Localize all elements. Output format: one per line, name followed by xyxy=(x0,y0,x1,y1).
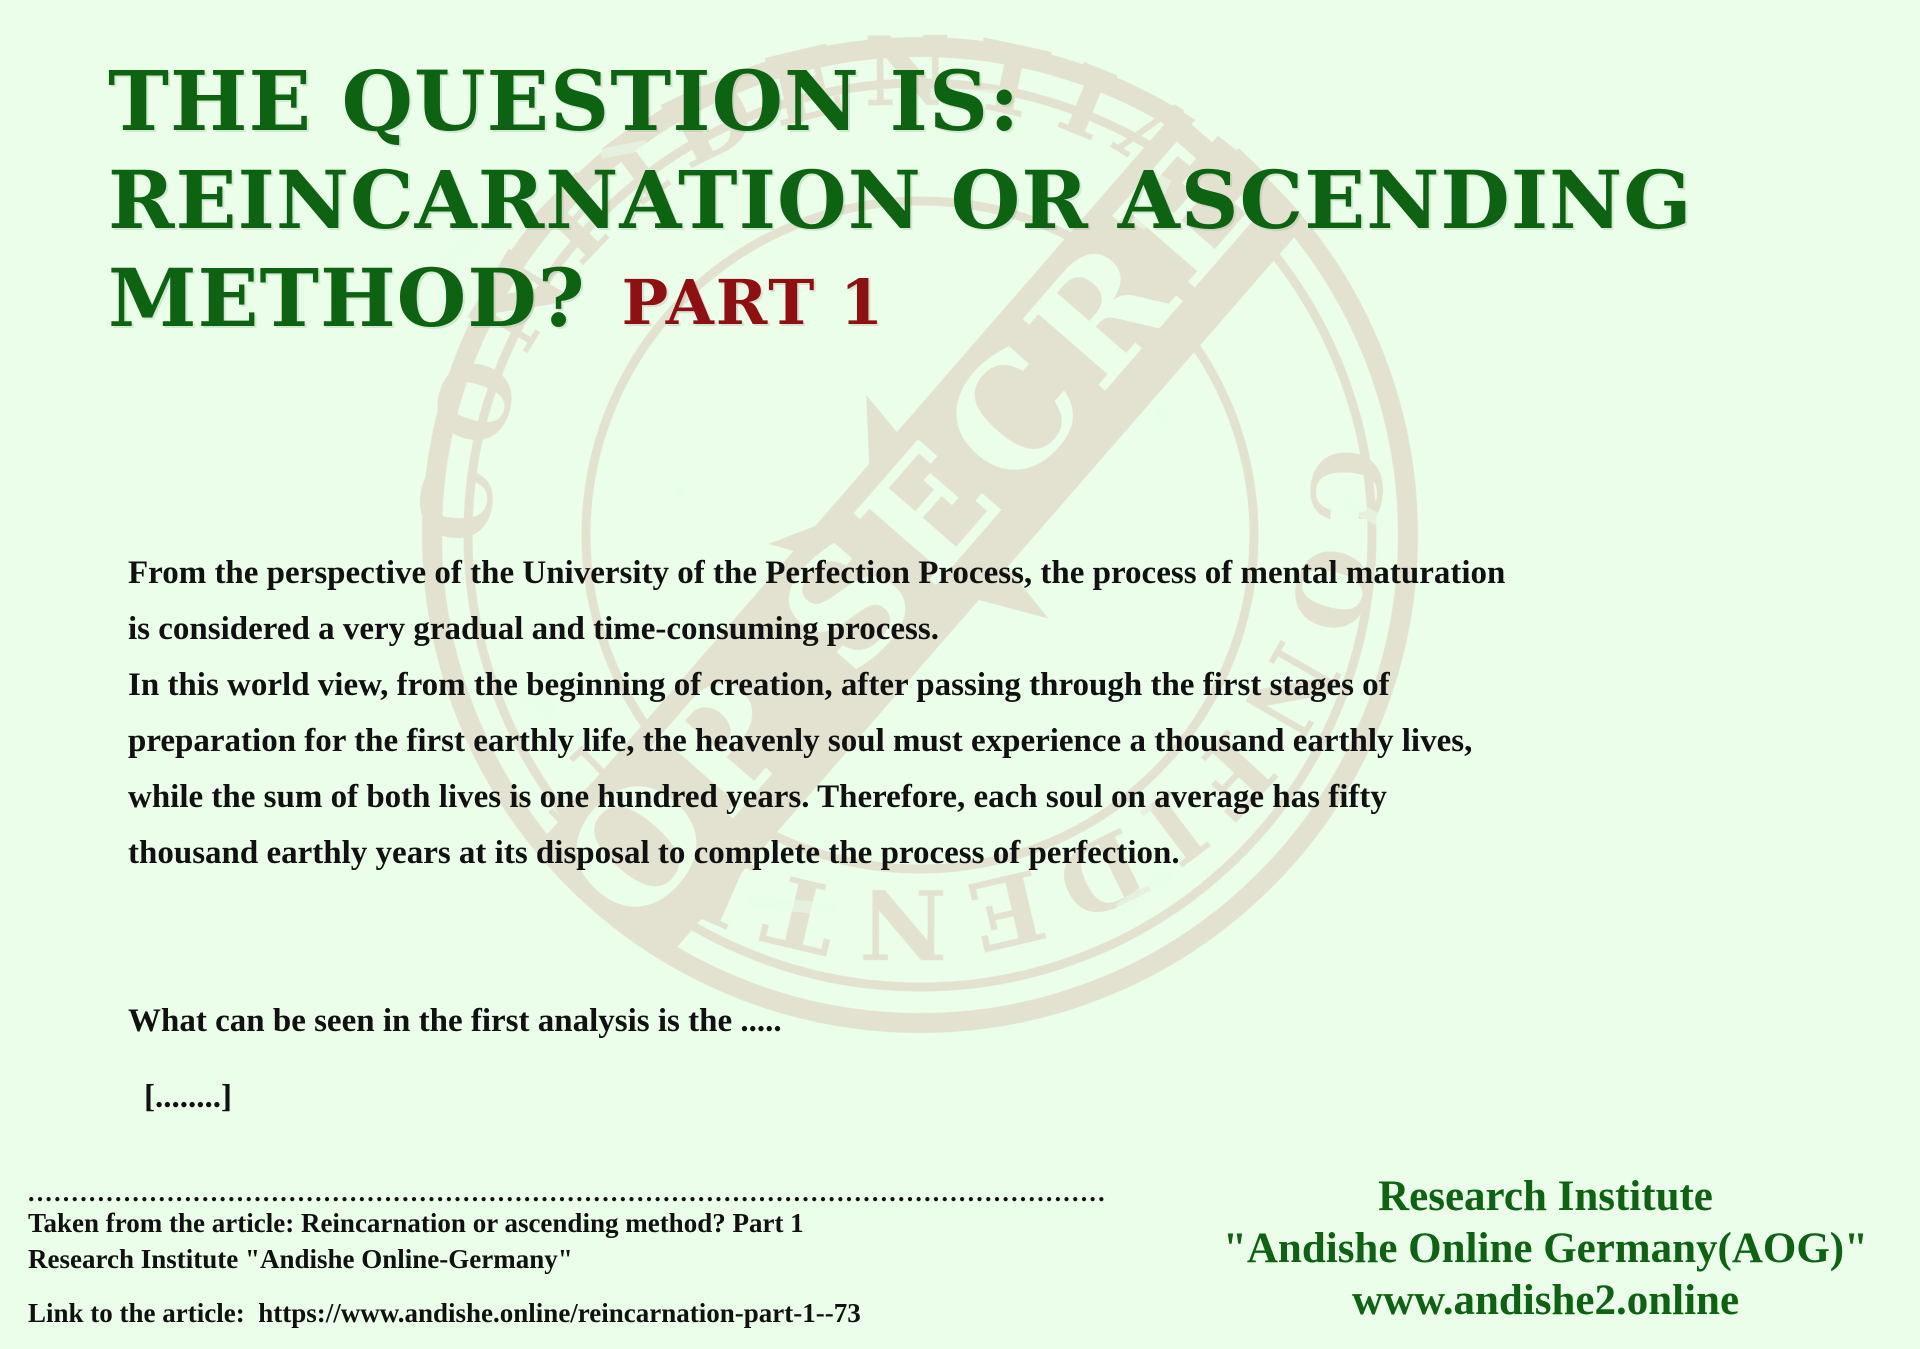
footer-institute: Research Institute "Andishe Online-Germa… xyxy=(28,1241,1108,1277)
brand-line-1: Research Institute xyxy=(1223,1171,1868,1223)
body-copy: From the perspective of the University o… xyxy=(128,545,1808,1125)
body-p2-line-2: preparation for the first earthly life, … xyxy=(128,713,1808,769)
title-line-1: The question is: xyxy=(108,52,1908,152)
footer-dotted-rule: ........................................… xyxy=(28,1183,1108,1205)
footer-spacer xyxy=(28,1277,1108,1295)
title-line-3: Method?Part 1 xyxy=(108,250,1908,348)
body-spacer-2 xyxy=(128,937,1808,993)
body-closing-line: What can be seen in the first analysis i… xyxy=(128,993,1808,1049)
body-spacer xyxy=(128,881,1808,937)
brand-website[interactable]: www.andishe2.online xyxy=(1223,1275,1868,1327)
brand-line-2: "Andishe Online Germany(AOG)" xyxy=(1223,1223,1868,1275)
title-line-2: Reincarnation or Ascending xyxy=(108,152,1908,250)
footer-source-label: Taken from the article: Reincarnation or… xyxy=(28,1205,1108,1241)
poster-canvas: CONFIDENTIAL CONFIDENTIAL TOP SECRET xyxy=(0,0,1920,1349)
footer-link-row[interactable]: Link to the article: https://www.andishe… xyxy=(28,1295,1108,1331)
body-p2-line-1: In this world view, from the beginning o… xyxy=(128,657,1808,713)
body-truncation-marker: [........] xyxy=(144,1069,1808,1125)
page-title: The question is: Reincarnation or Ascend… xyxy=(108,52,1908,347)
title-part-badge: Part 1 xyxy=(622,266,886,339)
footer-brand-block: Research Institute "Andishe Online Germa… xyxy=(1223,1171,1868,1327)
body-p2-line-3: while the sum of both lives is one hundr… xyxy=(128,769,1808,825)
body-p2-line-4: thousand earthly years at its disposal t… xyxy=(128,825,1808,881)
footer-link-url[interactable]: https://www.andishe.online/reincarnation… xyxy=(258,1298,861,1328)
body-p1-line-1: From the perspective of the University o… xyxy=(128,545,1808,601)
footer-source-block: ........................................… xyxy=(28,1183,1108,1331)
body-p1-line-2: is considered a very gradual and time-co… xyxy=(128,601,1808,657)
title-line-3-text: Method? xyxy=(108,251,586,345)
footer-link-label: Link to the article: xyxy=(28,1298,245,1328)
